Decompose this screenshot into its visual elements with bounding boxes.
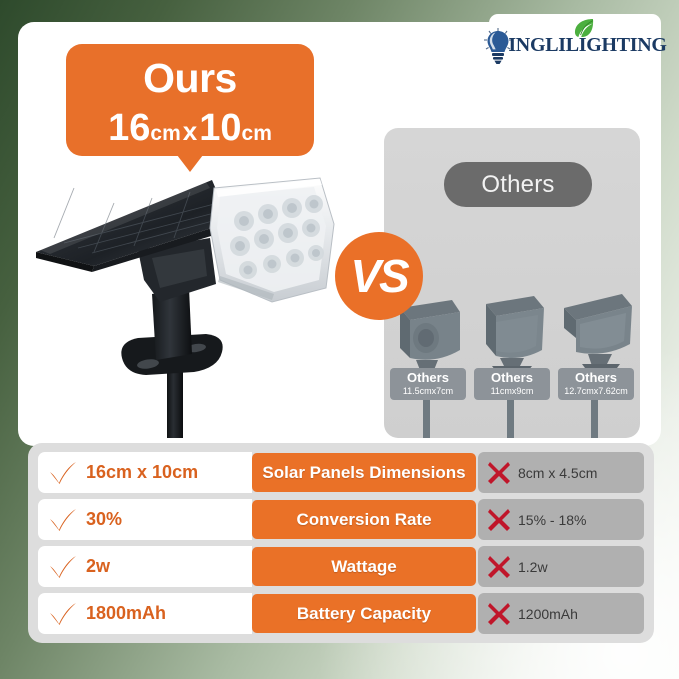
others-heading-label: Others [481,171,554,199]
ours-cell: 30% [38,499,252,540]
feature-cell: Conversion Rate [252,500,476,539]
check-icon [48,554,78,580]
competitor-lamp-3: Others 12.7cmx7.62cm [558,286,634,438]
lightbulb-icon [483,27,513,65]
comparison-table: 16cm x 10cm Solar Panels Dimensions 8cm … [28,443,654,643]
feature-label: Conversion Rate [296,510,431,530]
cross-icon [486,554,512,580]
competitor-lamp-3-name: Others [558,371,634,385]
others-heading-badge: Others [444,162,592,207]
table-row: 30% Conversion Rate 15% - 18% [38,499,644,540]
competitor-lamp-2-label: Others 11cmx9cm [474,368,550,400]
competitor-lamp-2-name: Others [474,371,550,385]
cross-icon [486,507,512,533]
others-value: 1200mAh [512,606,578,622]
competitor-lamp-1-size: 11.5cmx7cm [390,386,466,396]
ours-cell: 16cm x 10cm [38,452,252,493]
ours-size-separator: x [181,116,199,146]
table-row: 2w Wattage 1.2w [38,546,644,587]
table-row: 1800mAh Battery Capacity 1200mAh [38,593,644,634]
feature-cell: Solar Panels Dimensions [252,453,476,492]
ours-size-unit1: cm [150,122,180,145]
feature-cell: Wattage [252,547,476,586]
ours-size-num1: 16 [108,107,150,149]
ours-badge: Ours 16cmx10cm [66,44,314,156]
check-icon [48,601,78,627]
ours-value: 1800mAh [78,603,166,624]
competitor-lamp-1-label: Others 11.5cmx7cm [390,368,466,400]
feature-cell: Battery Capacity [252,594,476,633]
product-image [34,176,354,438]
ours-value: 30% [78,509,122,530]
competitor-lamp-3-graphic [558,286,634,438]
ours-cell: 1800mAh [38,593,252,634]
others-value: 15% - 18% [512,512,586,528]
brand-logo-plate: INGLILIGHTING [489,14,661,77]
table-row: 16cm x 10cm Solar Panels Dimensions 8cm … [38,452,644,493]
feature-label: Solar Panels Dimensions [262,463,465,483]
product-led-head [210,178,334,302]
others-cell: 1.2w [478,546,644,587]
ours-size-num2: 10 [199,107,241,149]
cross-icon [486,460,512,486]
leaf-icon [573,18,595,38]
competitor-lamp-1-name: Others [390,371,466,385]
vs-badge: VS [335,232,423,320]
cross-icon [486,601,512,627]
ours-size: 16cmx10cm [66,99,314,147]
competitor-lamp-2-graphic [474,286,550,438]
others-cell: 15% - 18% [478,499,644,540]
competitor-lamp-2: Others 11cmx9cm [474,286,550,438]
vs-label: VS [350,249,407,303]
ours-size-unit2: cm [242,122,272,145]
feature-label: Battery Capacity [297,604,431,624]
ours-title: Ours [66,44,314,99]
ours-cell: 2w [38,546,252,587]
others-cell: 1200mAh [478,593,644,634]
others-cell: 8cm x 4.5cm [478,452,644,493]
others-value: 1.2w [512,559,548,575]
ours-value: 16cm x 10cm [78,462,198,483]
competitor-lamp-2-size: 11cmx9cm [474,386,550,396]
ours-value: 2w [78,556,110,577]
competitor-lamp-3-label: Others 12.7cmx7.62cm [558,368,634,400]
feature-label: Wattage [331,557,397,577]
check-icon [48,460,78,486]
others-value: 8cm x 4.5cm [512,465,597,481]
infographic-canvas: Others Others 11.5cmx7cm [0,0,679,679]
competitor-lamp-3-size: 12.7cmx7.62cm [558,386,634,396]
check-icon [48,507,78,533]
product-stake [167,372,183,438]
